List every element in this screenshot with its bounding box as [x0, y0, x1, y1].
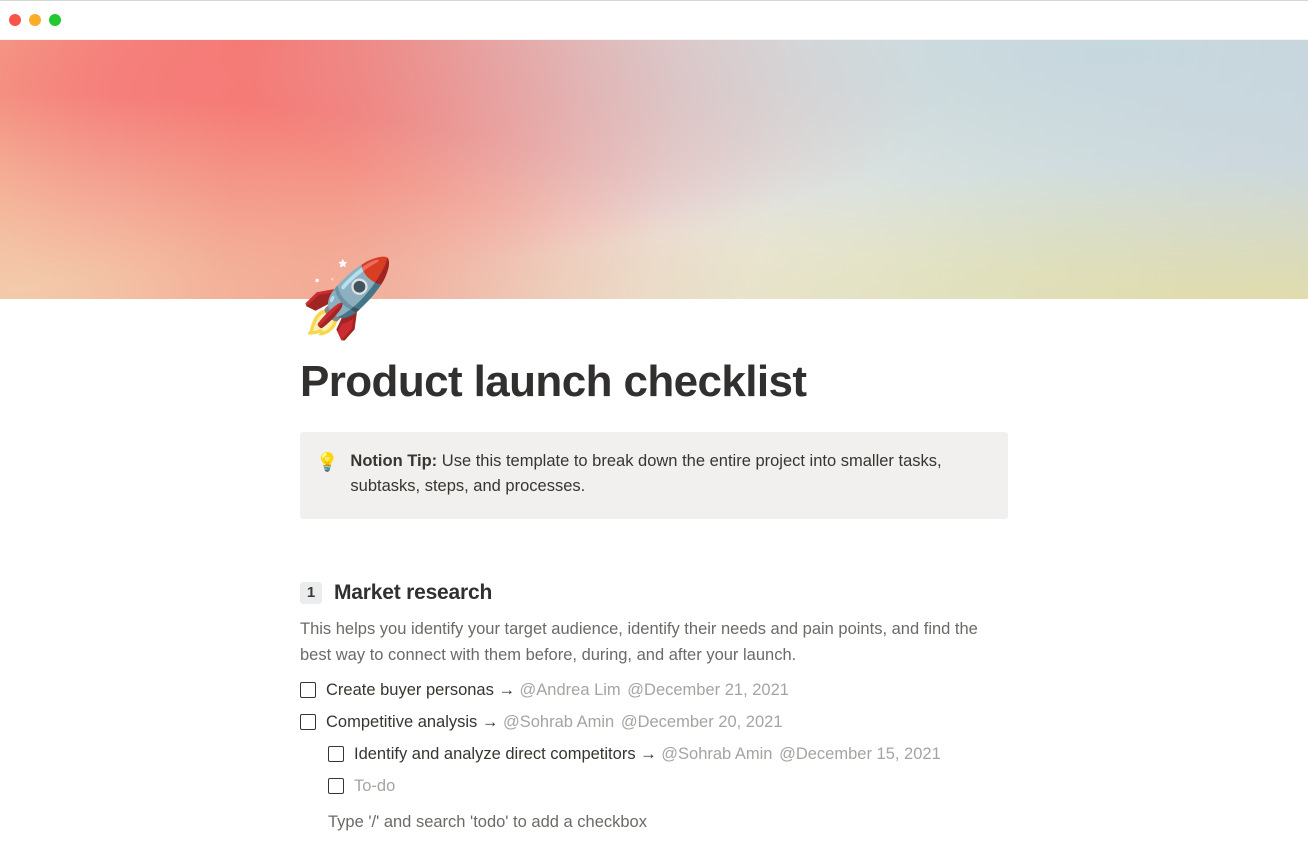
section-heading: 1 Market research: [300, 581, 1308, 605]
app-window: 🚀 Product launch checklist 💡 Notion Tip:…: [0, 0, 1308, 852]
close-window-button[interactable]: [9, 14, 21, 26]
lightbulb-icon: 💡: [316, 449, 338, 500]
section-market-research: 1 Market research This helps you identif…: [300, 581, 1308, 838]
page-title[interactable]: Product launch checklist: [300, 357, 1308, 408]
callout-body: Use this template to break down the enti…: [350, 452, 941, 496]
callout-text: Notion Tip: Use this template to break d…: [350, 449, 990, 500]
window-controls: [9, 14, 61, 26]
callout-label: Notion Tip:: [350, 452, 437, 470]
todo-checkbox[interactable]: [300, 714, 316, 730]
maximize-window-button[interactable]: [49, 14, 61, 26]
arrow-right-icon: →: [640, 745, 657, 763]
todo-item-empty[interactable]: To-do: [300, 774, 1308, 806]
todo-title: Identify and analyze direct competitors: [354, 745, 636, 763]
page-content: Product launch checklist 💡 Notion Tip: U…: [0, 299, 1308, 838]
todo-checkbox[interactable]: [300, 682, 316, 698]
todo-label[interactable]: Identify and analyze direct competitors …: [354, 742, 941, 767]
section-title[interactable]: Market research: [334, 581, 492, 605]
todo-checkbox[interactable]: [328, 746, 344, 762]
date-mention[interactable]: @December 20, 2021: [621, 713, 783, 731]
person-mention[interactable]: @Andrea Lim: [520, 681, 621, 699]
arrow-right-icon: →: [498, 681, 515, 699]
todo-title: Create buyer personas: [326, 681, 494, 699]
date-mention[interactable]: @December 21, 2021: [627, 681, 789, 699]
arrow-right-icon: →: [482, 713, 499, 731]
section-number-badge: 1: [300, 582, 322, 604]
todo-item[interactable]: Competitive analysis → @Sohrab Amin @Dec…: [300, 710, 1308, 742]
window-titlebar: [0, 1, 1308, 40]
minimize-window-button[interactable]: [29, 14, 41, 26]
todo-title: Competitive analysis: [326, 713, 477, 731]
add-checkbox-hint[interactable]: Type '/' and search 'todo' to add a chec…: [300, 806, 1308, 838]
person-mention[interactable]: @Sohrab Amin: [661, 745, 772, 763]
notion-tip-callout[interactable]: 💡 Notion Tip: Use this template to break…: [300, 432, 1008, 519]
todo-placeholder[interactable]: To-do: [354, 774, 395, 799]
page-cover-image[interactable]: 🚀: [0, 40, 1308, 299]
todo-item-nested[interactable]: Identify and analyze direct competitors …: [300, 742, 1308, 774]
todo-label[interactable]: Create buyer personas → @Andrea Lim @Dec…: [326, 678, 789, 703]
date-mention[interactable]: @December 15, 2021: [779, 745, 941, 763]
todo-item[interactable]: Create buyer personas → @Andrea Lim @Dec…: [300, 678, 1308, 710]
person-mention[interactable]: @Sohrab Amin: [503, 713, 614, 731]
todo-checkbox[interactable]: [328, 778, 344, 794]
todo-label[interactable]: Competitive analysis → @Sohrab Amin @Dec…: [326, 710, 783, 735]
section-description[interactable]: This helps you identify your target audi…: [300, 616, 990, 669]
